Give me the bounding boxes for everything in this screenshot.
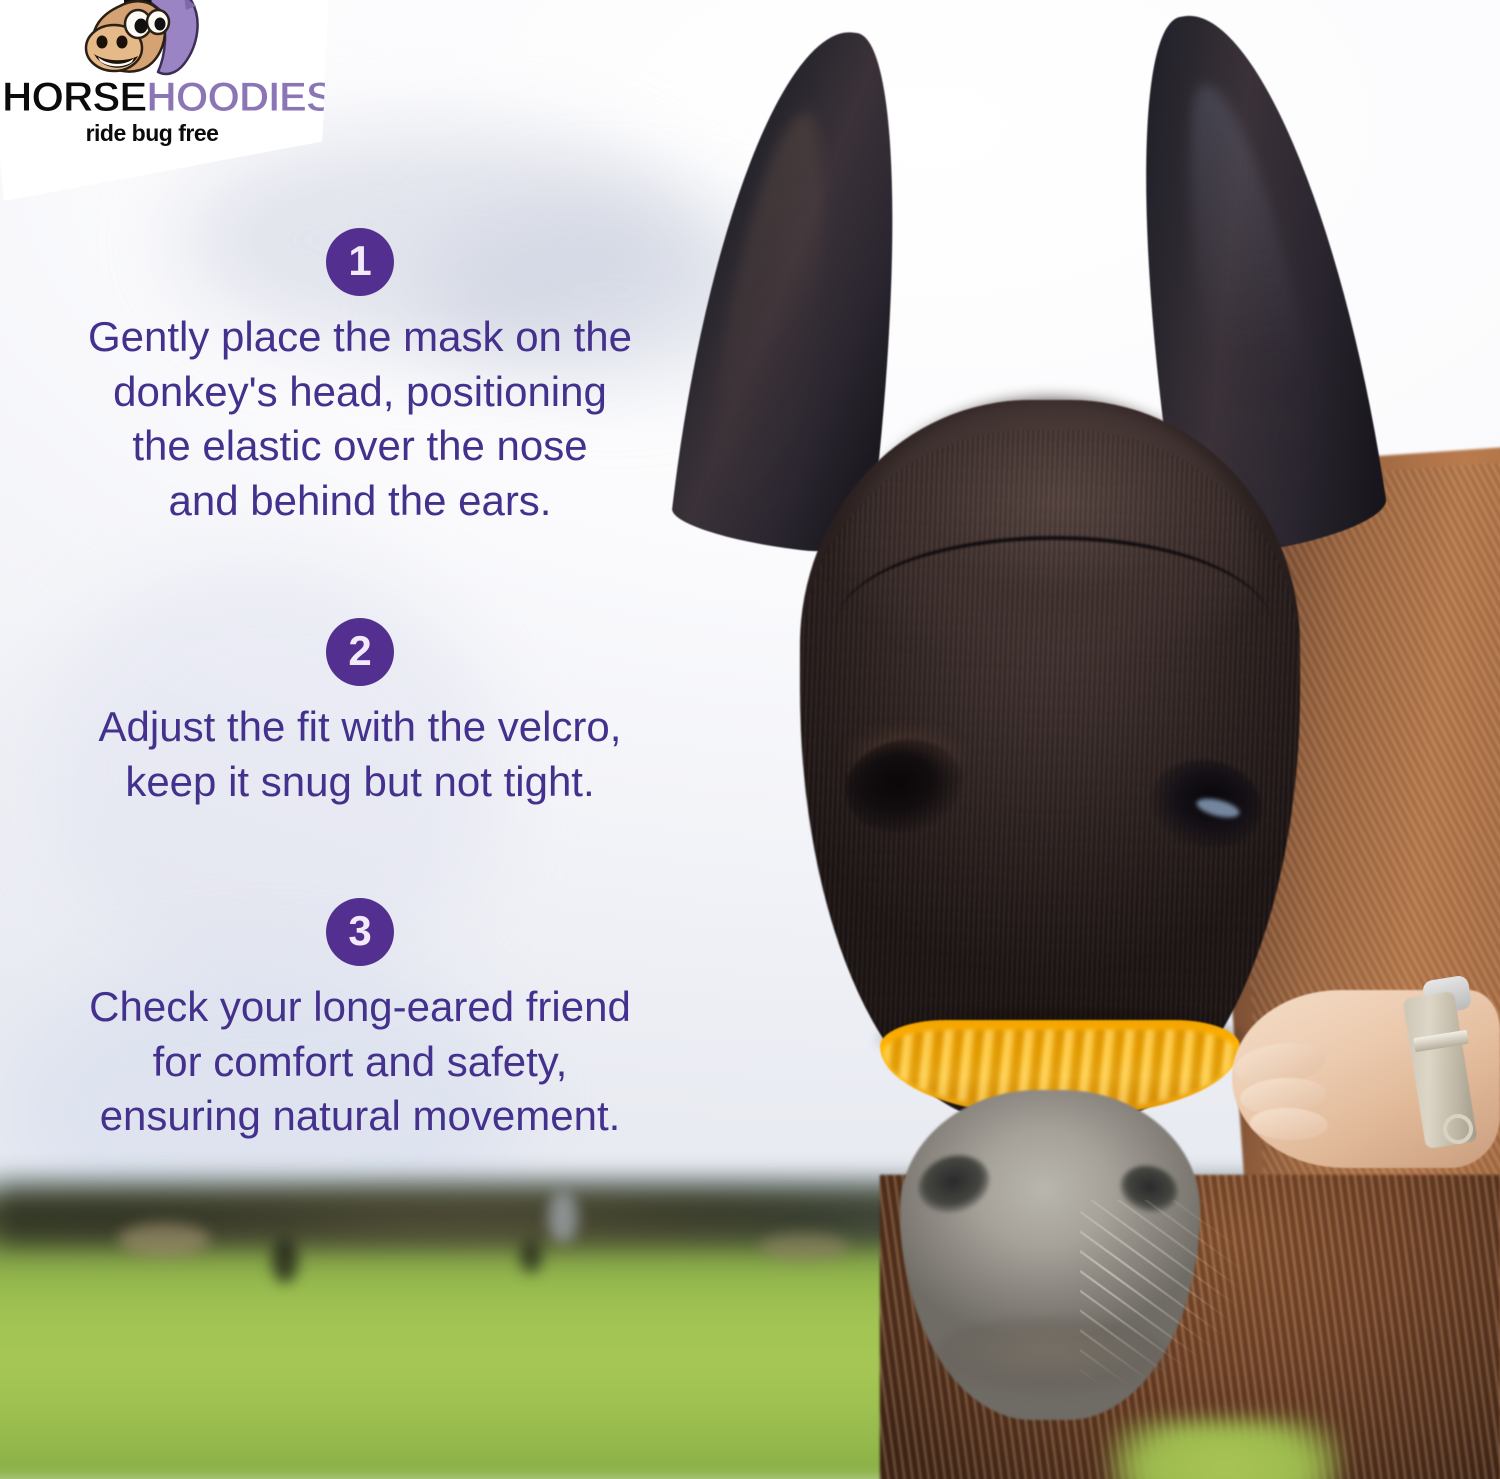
step-2-text: Adjust the fit with the velcro, keep it … — [0, 700, 720, 809]
step-2: 2 Adjust the fit with the velcro, keep i… — [0, 618, 720, 809]
step-1-text: Gently place the mask on the donkey's he… — [0, 310, 720, 528]
step-2-badge: 2 — [326, 618, 394, 686]
donkey-whiskers — [1080, 1200, 1380, 1450]
step-1: 1 Gently place the mask on the donkey's … — [0, 228, 720, 528]
step-3-badge: 3 — [326, 898, 394, 966]
step-1-badge: 1 — [326, 228, 394, 296]
step-3: 3 Check your long-eared friend for comfo… — [0, 898, 720, 1144]
step-3-text: Check your long-eared friend for comfort… — [0, 980, 720, 1144]
instruction-steps: 1 Gently place the mask on the donkey's … — [0, 0, 720, 1240]
promo-graphic: HORSEHOODIES ride bug free 1 Gently plac… — [0, 0, 1500, 1479]
